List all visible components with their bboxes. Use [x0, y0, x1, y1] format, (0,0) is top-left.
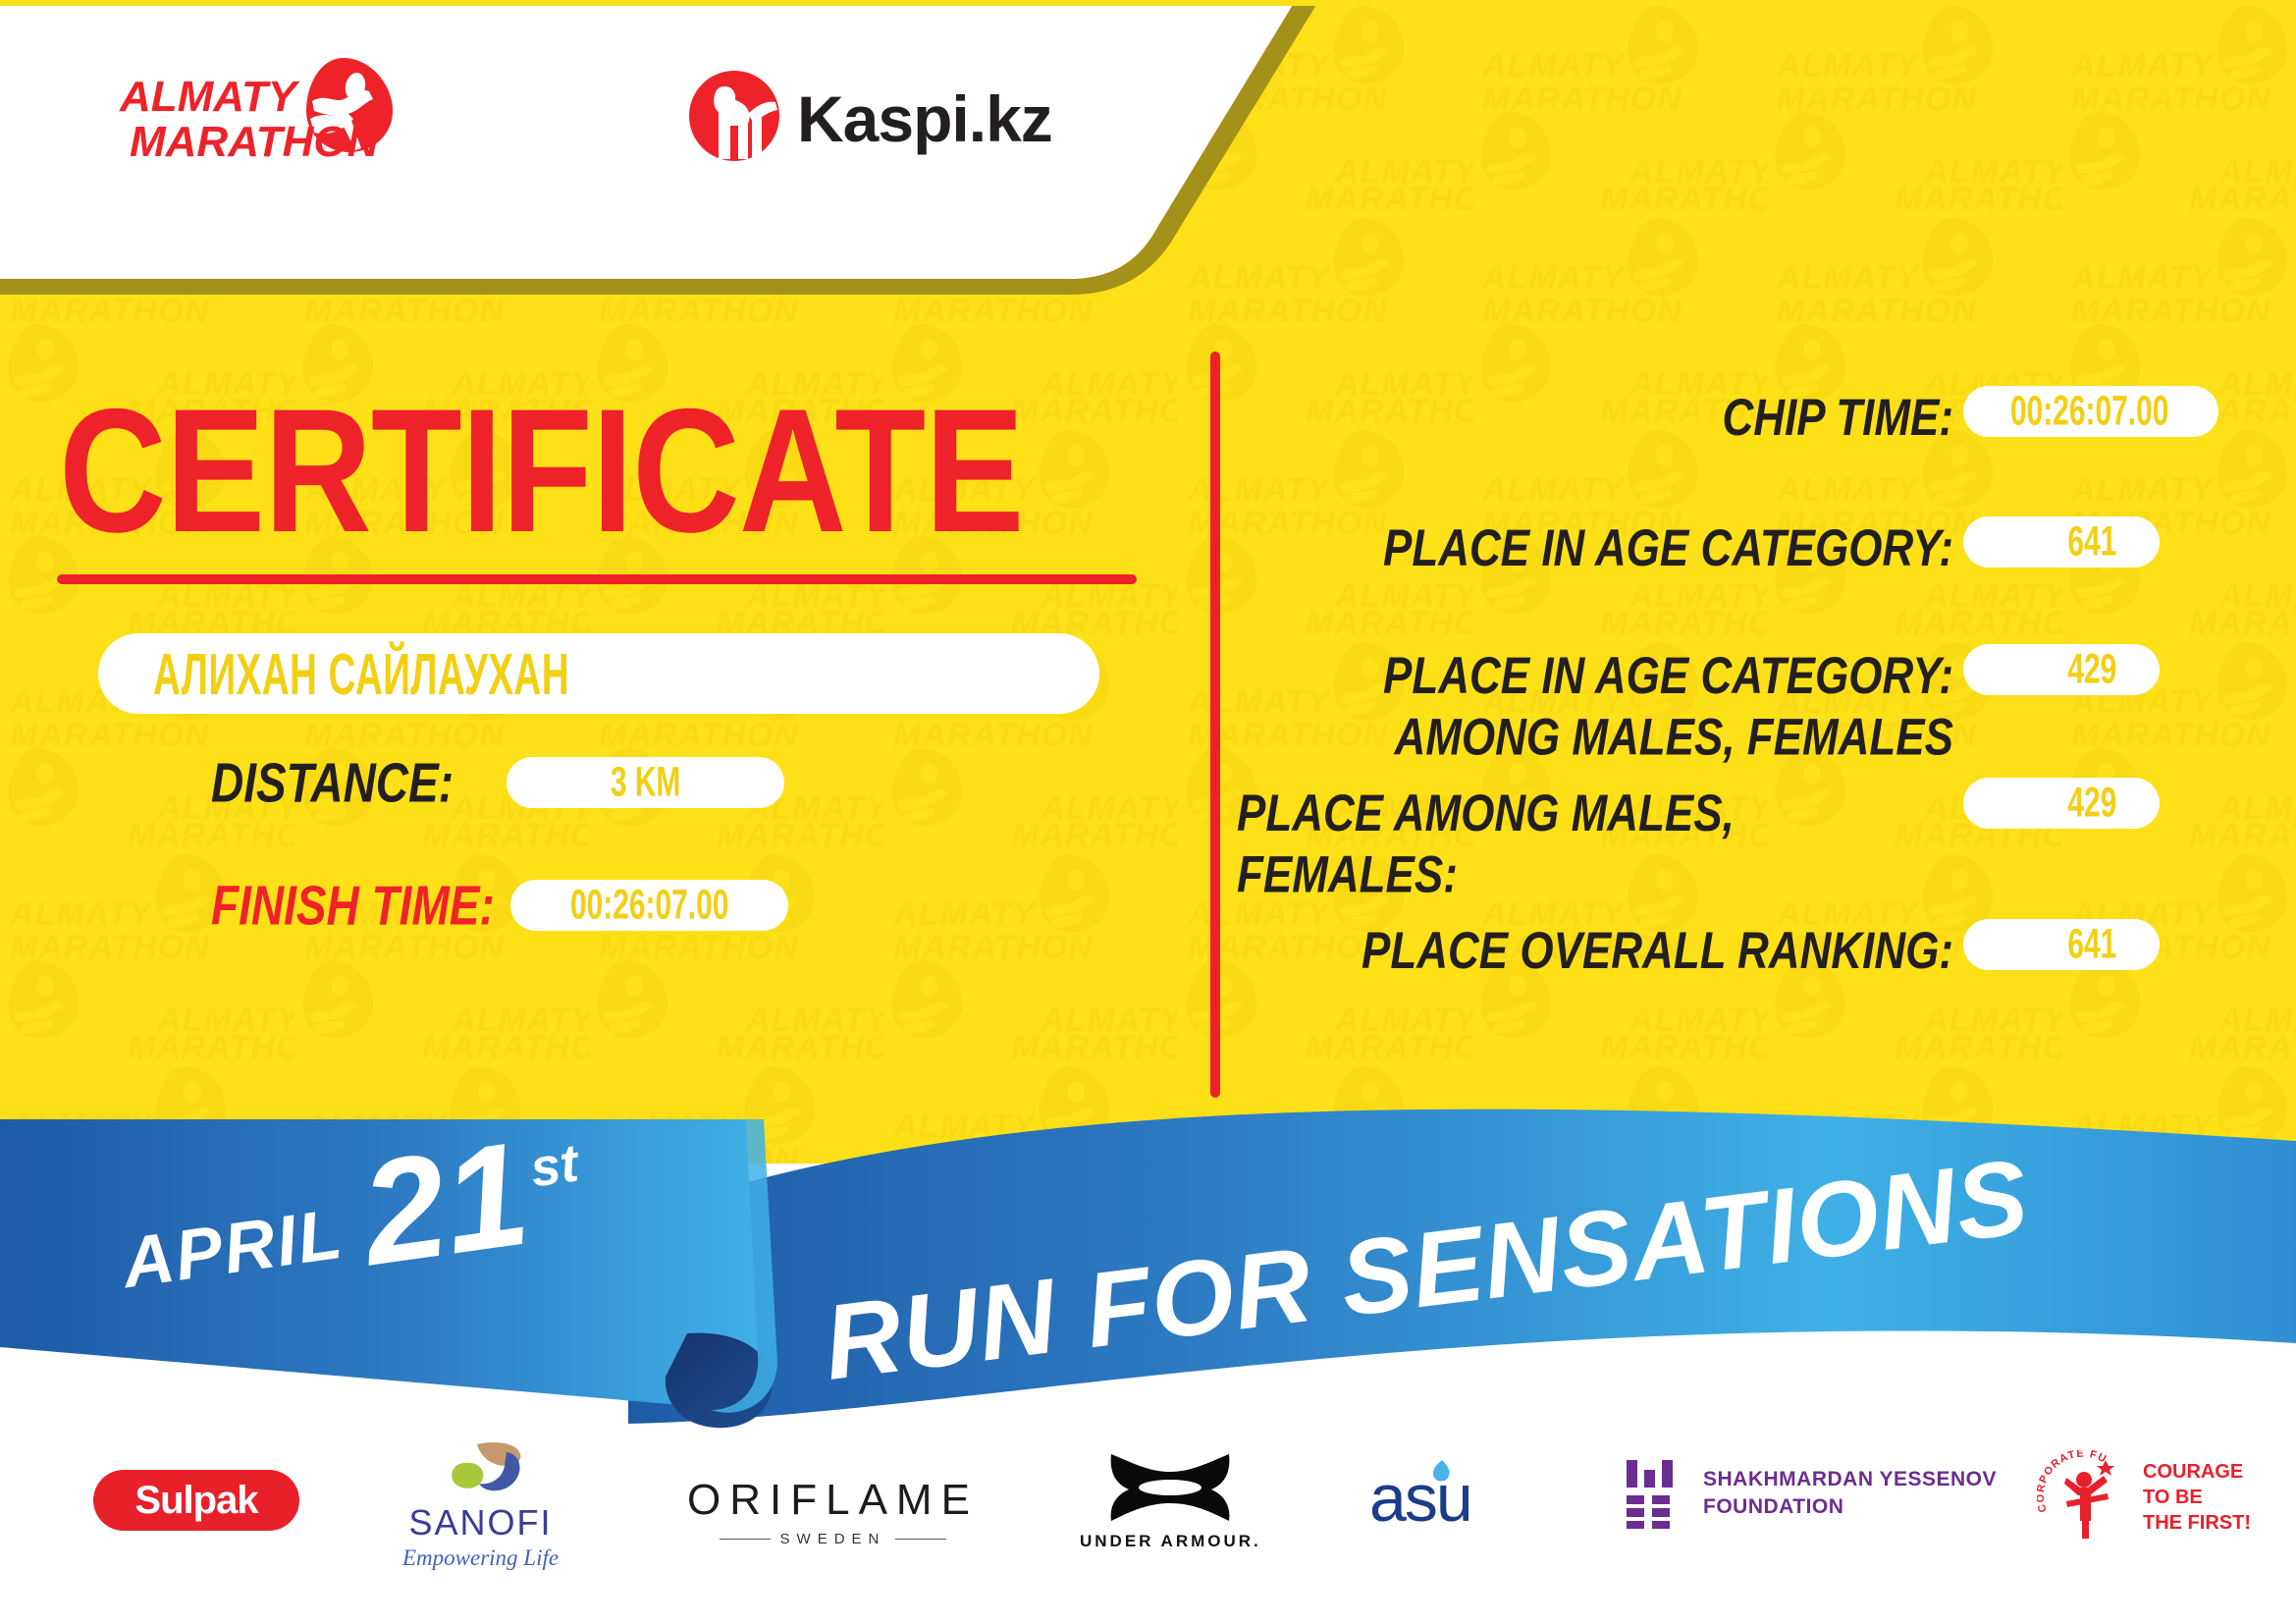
corporate-fund-line3: THE FIRST! [2143, 1510, 2251, 1536]
corporate-fund-line2: TO BE [2143, 1485, 2251, 1510]
finish-time-row: FINISH TIME: 00:26:07.00 [211, 879, 788, 932]
certificate-canvas: ALMATY MARATHON ALMATY MARATHON ALMATY M… [0, 0, 2296, 1624]
svg-text:ALMATY: ALMATY [119, 73, 300, 121]
top-accent-bar [0, 0, 2296, 6]
sponsor-corporate-fund: CORPORATE FUND COURAGE TO BE THE FIRST! [2037, 1450, 2251, 1544]
left-column: CERTIFICATE АЛИХАН САЙЛАУХАН DISTANCE: 3… [0, 334, 1168, 1149]
column-divider [1210, 352, 1220, 1098]
sanofi-label: SANOFI [402, 1502, 559, 1543]
results-column: CHIP TIME: 00:26:07.00 PLACE IN AGE CATE… [1227, 334, 2296, 1149]
sponsor-yessenov-foundation: SHAKHMARDAN YESSENOV FOUNDATION [1625, 1458, 1997, 1529]
divider-line [720, 1539, 771, 1540]
result-row: PLACE OVERALL RANKING: [1227, 921, 1953, 972]
header-curve [0, 0, 2296, 334]
result-value: 641 [2068, 518, 2117, 567]
under-armour-mark-icon [1101, 1450, 1239, 1523]
result-row: CHIP TIME: [1227, 388, 1953, 439]
result-label: PLACE OVERALL RANKING: [1362, 921, 1953, 982]
result-value-field[interactable]: 641 [1963, 919, 2160, 970]
sanofi-mark-icon [422, 1440, 540, 1497]
asu-label: asu [1369, 1460, 1471, 1537]
finish-time-value: 00:26:07.00 [570, 882, 728, 930]
result-row: PLACE IN AGE CATEGORY: AMONG MALES, FEMA… [1227, 646, 1953, 748]
result-row: PLACE IN AGE CATEGORY: [1227, 518, 1953, 569]
corporate-fund-runner-icon: CORPORATE FUND [2037, 1450, 2131, 1544]
sponsor-asu: asu [1369, 1460, 1471, 1537]
kaspi-logo: Kaspi.kz [687, 69, 1060, 162]
distance-field[interactable]: 3 KM [507, 757, 784, 808]
result-label: PLACE AMONG MALES, FEMALES: [1237, 784, 1735, 906]
result-row: PLACE AMONG MALES, FEMALES: [1227, 784, 1953, 886]
oriflame-tagline: SWEDEN [780, 1531, 886, 1547]
result-value-field[interactable]: 429 [1963, 644, 2160, 695]
sulpak-logo: Sulpak [93, 1470, 299, 1531]
result-label: CHIP TIME: [1723, 388, 1953, 449]
corporate-fund-line1: COURAGE [2143, 1459, 2251, 1485]
result-value-field[interactable]: 00:26:07.00 [1963, 386, 2218, 437]
page-title: CERTIFICATE [59, 383, 1024, 559]
divider-line [895, 1539, 946, 1540]
result-label: PLACE IN AGE CATEGORY: [1383, 518, 1953, 579]
event-ribbon: APRIL 21 st RUN FOR SENSATIONS [0, 1100, 2296, 1434]
sponsor-sanofi: SANOFI Empowering Life [402, 1440, 559, 1571]
title-underline [57, 574, 1137, 584]
asu-droplet-icon [1426, 1458, 1456, 1488]
result-value-field[interactable]: 641 [1963, 516, 2160, 568]
finish-time-field[interactable]: 00:26:07.00 [510, 880, 788, 931]
participant-name-field[interactable]: АЛИХАН САЙЛАУХАН [98, 633, 1099, 714]
sponsor-oriflame: ORIFLAME SWEDEN [687, 1476, 979, 1547]
sponsor-sulpak: Sulpak [93, 1470, 299, 1531]
sponsor-strip: Sulpak SANOFI Empowering Life ORIFLAME [0, 1429, 2296, 1605]
distance-row: DISTANCE: 3 KM [211, 756, 784, 809]
yessenov-bars-icon [1625, 1458, 1685, 1529]
result-value: 429 [2068, 646, 2117, 694]
oriflame-label: ORIFLAME [687, 1476, 979, 1525]
ribbon-day: 21 [349, 1110, 538, 1297]
finish-time-label: FINISH TIME: [211, 873, 495, 938]
result-value: 429 [2068, 780, 2117, 828]
svg-text:Kaspi.kz: Kaspi.kz [797, 82, 1052, 155]
svg-text:MARATHON: MARATHON [130, 118, 380, 162]
distance-value: 3 KM [611, 759, 680, 807]
under-armour-label: UNDER ARMOUR. [1080, 1532, 1261, 1551]
almaty-marathon-logo: ALMATY MARATHON [116, 54, 440, 162]
sulpak-label: Sulpak [134, 1479, 257, 1523]
yessenov-tagline: FOUNDATION [1703, 1493, 1997, 1521]
result-value-field[interactable]: 429 [1963, 778, 2160, 829]
sponsor-under-armour: UNDER ARMOUR. [1080, 1450, 1261, 1551]
result-value: 00:26:07.00 [2010, 388, 2168, 436]
result-label: PLACE IN AGE CATEGORY: AMONG MALES, FEMA… [1383, 646, 1953, 769]
participant-name-value: АЛИХАН САЙЛАУХАН [153, 639, 569, 708]
distance-label: DISTANCE: [211, 750, 454, 815]
sanofi-tagline: Empowering Life [402, 1545, 559, 1571]
yessenov-label: SHAKHMARDAN YESSENOV [1703, 1466, 1997, 1493]
result-value: 641 [2068, 921, 2117, 969]
